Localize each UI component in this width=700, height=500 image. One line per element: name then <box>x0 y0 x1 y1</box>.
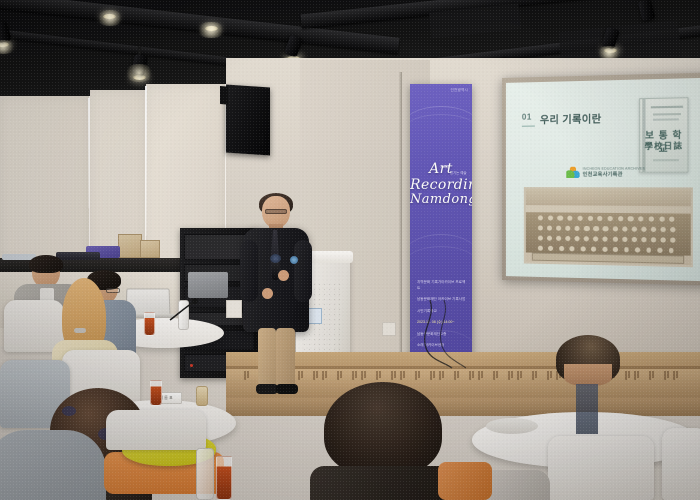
document-subhead: 學校日誌 <box>640 140 687 152</box>
photo-face <box>657 248 662 253</box>
banner-title-line-3: Namdong <box>410 193 472 207</box>
attendee-torso <box>310 466 456 500</box>
light-glow <box>96 10 124 26</box>
presenter-badge <box>290 256 298 264</box>
photo-face <box>641 237 646 242</box>
wall-seam <box>145 86 147 236</box>
platform-slat <box>418 371 420 378</box>
iced-tea-cup <box>144 312 155 336</box>
microphone-head <box>270 254 281 263</box>
platform-slat <box>415 371 417 380</box>
presenter-arm-right <box>294 240 312 302</box>
rack-led-red <box>190 364 193 367</box>
projection-screen-frame: 01 우리 기록이란 보 통 학교 學校日誌 <box>502 73 700 286</box>
platform-slat <box>664 371 666 380</box>
platform-slat <box>481 371 483 378</box>
wall-outlet <box>382 322 396 336</box>
attendee-hair <box>29 255 63 273</box>
platform-slat <box>511 371 513 378</box>
document-line <box>653 113 681 115</box>
photo-face <box>628 216 633 221</box>
banner-artwork-title: Art Recording Namdong <box>410 162 472 207</box>
platform-slat <box>517 371 519 380</box>
hair-accessory <box>62 406 76 416</box>
platform-slat <box>673 371 675 380</box>
platform-slat <box>439 371 441 380</box>
projection-screen: 01 우리 기록이란 보 통 학교 學校日誌 <box>506 78 700 281</box>
logo-maintext: 인천교육사기록관 <box>583 171 623 177</box>
presenter-trouser-right <box>276 328 295 388</box>
iced-tea-cup <box>216 456 232 500</box>
microphone-stand <box>168 296 198 322</box>
platform-slat <box>652 371 654 378</box>
platform-slat <box>403 371 405 378</box>
photo-face <box>612 226 617 231</box>
photo-face <box>587 216 592 221</box>
photo-face <box>670 237 675 242</box>
platform-slat <box>667 371 669 378</box>
platform-slat <box>325 371 327 378</box>
photo-face <box>558 216 563 221</box>
cardboard-box <box>118 234 142 258</box>
photo-face <box>660 237 665 242</box>
photo-face <box>635 247 640 252</box>
platform-slat <box>493 371 495 380</box>
photo-caption-band <box>532 253 684 263</box>
platform-slat <box>478 371 480 380</box>
speaker-bracket <box>220 86 228 105</box>
presenter-hand-left <box>262 288 273 299</box>
photo-face <box>622 237 627 242</box>
platform-slat <box>379 371 381 378</box>
wall-outlet <box>226 300 242 318</box>
presenter-trouser-left <box>258 328 276 388</box>
wall-seam <box>88 98 90 208</box>
spotlight-icon <box>640 0 653 20</box>
presenter-hand-right <box>278 270 289 281</box>
photo-face <box>548 246 553 251</box>
photo-face <box>602 247 607 252</box>
wall-mounted-speaker <box>226 84 270 155</box>
rack-paper <box>188 272 228 298</box>
platform-slat <box>364 371 366 378</box>
platform-slat <box>472 371 474 378</box>
av-cable <box>400 300 490 370</box>
platform-slat <box>361 371 363 380</box>
platform-slat <box>394 371 396 378</box>
photo-face <box>618 216 623 221</box>
photo-face <box>538 236 543 241</box>
platform-slat <box>316 371 318 378</box>
photo-face <box>580 246 585 251</box>
photo-face <box>584 226 589 231</box>
photo-face <box>651 237 656 242</box>
cardboard-box <box>140 240 160 258</box>
presenter-glasses <box>265 209 287 214</box>
platform-slat <box>376 371 378 380</box>
platform-slat <box>676 371 678 378</box>
attendee-hair <box>324 382 442 476</box>
photo-face <box>631 227 636 232</box>
speaker-port <box>256 133 264 146</box>
orange-chair <box>438 462 492 500</box>
photo-face <box>559 246 564 251</box>
logo-subtext: INCHEON EDUCATION ARCHIVES <box>583 167 645 172</box>
snack-cup <box>196 386 208 406</box>
photo-face <box>646 248 651 253</box>
presentation-room-photo: 01 우리 기록이란 보 통 학교 學校日誌 <box>0 0 700 500</box>
platform-slat <box>391 371 393 380</box>
chair <box>662 428 700 500</box>
document-line <box>653 118 679 120</box>
presenter-shoe-left <box>256 384 278 394</box>
light-glow <box>196 22 226 38</box>
platform-slat <box>508 371 510 380</box>
document-line <box>651 106 683 109</box>
presenter <box>238 196 316 404</box>
platform-slat <box>442 371 444 378</box>
photo-face <box>603 226 608 231</box>
slide-number: 01 <box>522 112 532 121</box>
photo-face <box>570 246 575 251</box>
document-line <box>653 159 679 161</box>
slide-historical-photo <box>524 187 693 267</box>
platform-slat <box>433 371 435 378</box>
banner-title-line-2: Recording <box>410 178 472 193</box>
photo-face <box>547 236 552 241</box>
platform-slat <box>454 371 456 380</box>
platform-slat <box>322 371 324 380</box>
logo-text: INCHEON EDUCATION ARCHIVES 인천교육사기록관 <box>583 167 645 178</box>
photo-face <box>631 237 636 242</box>
iced-tea-cup <box>150 380 162 406</box>
photo-face <box>613 247 618 252</box>
photo-face <box>538 246 543 251</box>
suit-back-seam <box>576 384 598 434</box>
logo-mark-icon <box>566 167 579 178</box>
photo-face <box>612 237 617 242</box>
platform-slat <box>469 371 471 380</box>
platform-slat <box>496 371 498 378</box>
banner-wave-decor <box>410 114 472 148</box>
photo-face <box>548 215 553 220</box>
attendee-dark-hair-center <box>318 382 448 500</box>
hair-tie <box>74 328 86 333</box>
chair <box>106 410 206 450</box>
platform-slat <box>337 371 339 380</box>
banner-title-line-1: Art <box>410 162 472 177</box>
photo-face <box>669 248 674 253</box>
platform-slat <box>400 371 402 380</box>
banner-body-1: 지역문화 기록가아카이브 프로젝트 <box>417 280 467 291</box>
presenter-shoe-right <box>276 384 298 394</box>
archive-logo: INCHEON EDUCATION ARCHIVES 인천교육사기록관 <box>566 167 645 178</box>
photo-face <box>622 226 627 231</box>
slide-title: 우리 기록이란 <box>540 110 602 126</box>
light-glow <box>124 64 154 82</box>
photo-face <box>591 247 596 252</box>
document-sub-wrap: 學校日誌 <box>640 140 687 152</box>
platform-slat <box>430 371 432 380</box>
slide-document-image: 보 통 학교 學校日誌 <box>639 97 688 173</box>
banner-top-label: 인천광역시 <box>450 88 468 93</box>
photo-face <box>659 216 665 221</box>
platform-slat <box>355 371 357 378</box>
water-bottle <box>196 448 214 500</box>
photo-background <box>526 189 691 206</box>
presenter-arm-left <box>240 240 258 302</box>
chair <box>548 436 654 500</box>
photo-face <box>593 226 598 231</box>
platform-slat <box>352 371 354 380</box>
attendee-foreground-left <box>0 430 106 500</box>
platform-slat <box>340 371 342 378</box>
slide-rule <box>522 126 535 127</box>
photo-face <box>641 227 647 232</box>
platform-slat <box>457 371 459 378</box>
